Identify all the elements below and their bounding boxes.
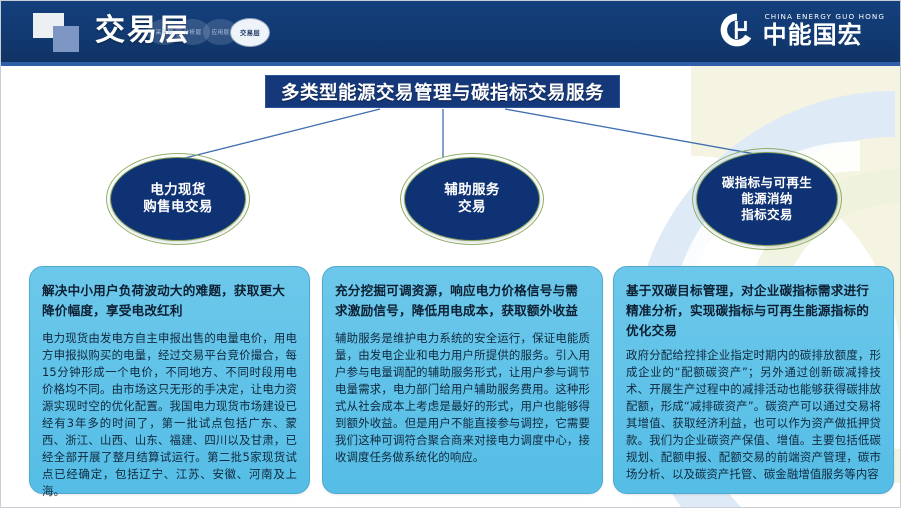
node-label: 辅助服务 交易: [444, 182, 500, 216]
card-body: 政府分配给控排企业指定时期内的碳排放额度，形成企业的“配额碳资产”；另外通过创新…: [626, 347, 881, 483]
top-header-bar: 交易层 采集层 分析层 应用层 交易层 CHINA ENERGY GUO HON…: [0, 0, 901, 62]
layer-pill-transaction-active[interactable]: 交易层: [231, 19, 269, 46]
main-title-banner: 多类型能源交易管理与碳指标交易服务: [265, 75, 620, 108]
card-heading: 解决中小用户负荷波动大的难题，获取更大降价幅度，享受电改红利: [42, 281, 297, 321]
node-label: 碳指标与可再生 能源消纳 指标交易: [722, 175, 812, 223]
slide-root: 交易层 采集层 分析层 应用层 交易层 CHINA ENERGY GUO HON…: [0, 0, 901, 508]
guohong-circle-logo-icon: [718, 11, 756, 49]
card-ancillary-service: 充分挖掘可调资源，响应电力价格信号与需求激励信号，降低用电成本，获取额外收益 辅…: [322, 266, 603, 494]
node-label: 电力现货 购售电交易: [143, 182, 213, 216]
header-accent-line: [0, 62, 901, 66]
card-heading: 充分挖掘可调资源，响应电力价格信号与需求激励信号，降低用电成本，获取额外收益: [335, 281, 590, 321]
card-body: 电力现货由发电方自主申报出售的电量电价，用电方申报拟购买的电量，经过交易平台竞价…: [42, 330, 297, 500]
node-spot-power[interactable]: 电力现货 购售电交易: [110, 157, 246, 241]
node-carbon-renewable[interactable]: 碳指标与可再生 能源消纳 指标交易: [696, 152, 838, 246]
main-title-text: 多类型能源交易管理与碳指标交易服务: [281, 79, 604, 105]
node-ancillary-service[interactable]: 辅助服务 交易: [404, 157, 540, 241]
card-heading: 基于双碳目标管理，对企业碳指标需求进行精准分析，实现碳指标与可再生能源指标的优化…: [626, 281, 881, 341]
brand-chinese: 中能国宏: [763, 22, 885, 48]
corporate-logo: CHINA ENERGY GUO HONG 中能国宏: [718, 11, 885, 49]
card-carbon-renewable: 基于双碳目标管理，对企业碳指标需求进行精准分析，实现碳指标与可再生能源指标的优化…: [613, 266, 894, 494]
card-body: 辅助服务是维护电力系统的安全运行，保证电能质量，由发电企业和电力用户所提供的服务…: [335, 330, 590, 466]
card-spot-power: 解决中小用户负荷波动大的难题，获取更大降价幅度，享受电改红利 电力现货由发电方自…: [29, 266, 310, 494]
layer-squares-icon: [33, 13, 85, 53]
